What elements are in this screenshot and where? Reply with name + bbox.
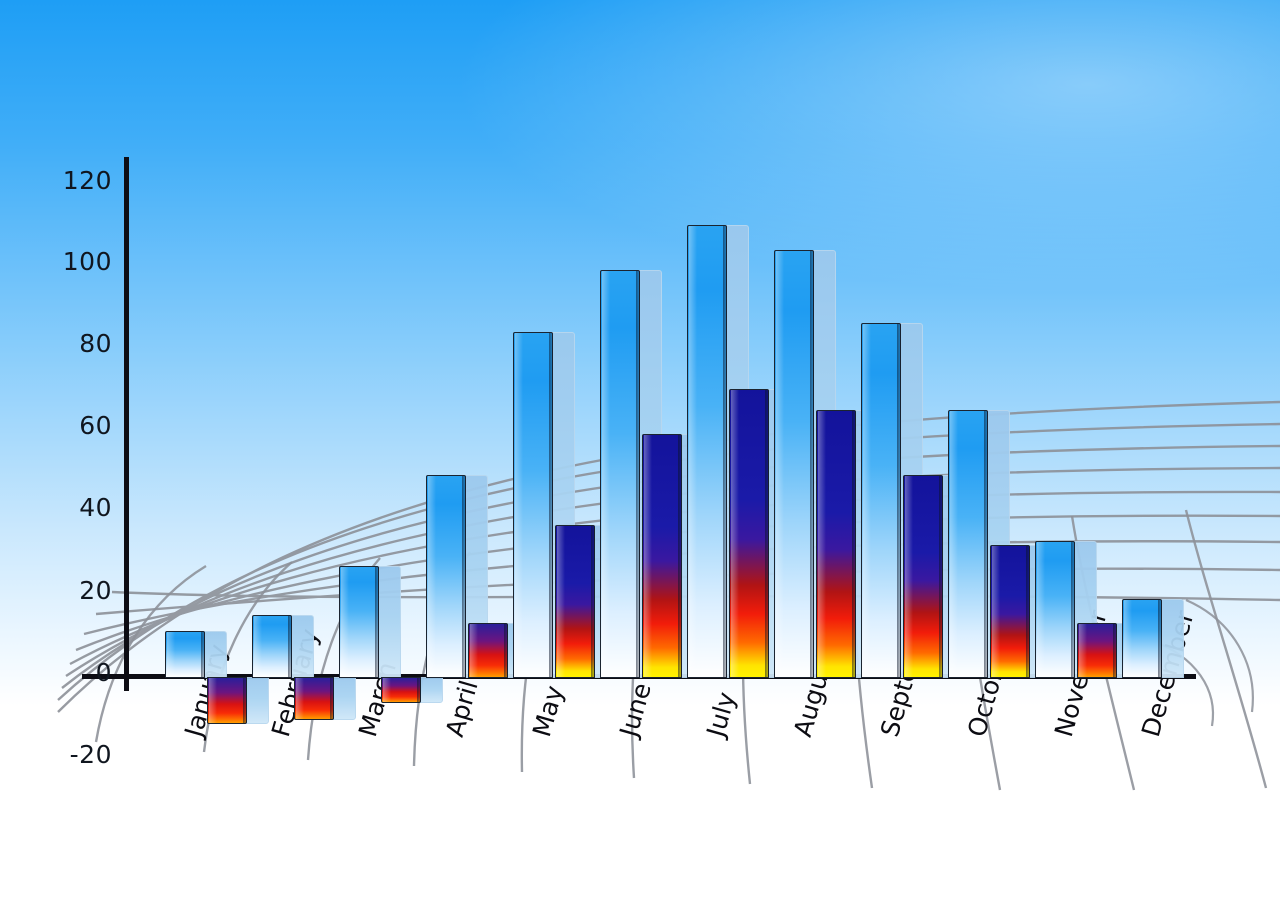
bar-hot-november-fill — [1077, 623, 1117, 678]
bar-hot-august — [816, 410, 854, 677]
bar-hot-april-edge — [504, 624, 508, 677]
y-tick-label-20: 20 — [42, 576, 112, 605]
bar-hot-july-edge — [765, 390, 769, 677]
bar-hot-august-fill — [816, 410, 856, 679]
bar-hot-may-edge — [591, 526, 595, 678]
bar-blue-march — [339, 566, 377, 677]
bar-hot-march — [381, 677, 419, 702]
bar-blue-june-fill — [600, 270, 640, 678]
bar-blue-may-fill — [513, 332, 553, 679]
bar-blue-september-edge — [897, 324, 901, 677]
y-tick-label-neg20: -20 — [42, 740, 112, 769]
bar-hot-july-fill — [729, 389, 769, 678]
chart-canvas: 120100806040200-20 JanuaryFebruaryMarchA… — [0, 0, 1280, 905]
bar-hot-september — [903, 475, 941, 676]
bar-blue-july-fill — [687, 225, 727, 679]
bar-hot-august-edge — [852, 411, 856, 678]
bar-hot-september-fill — [903, 475, 943, 678]
bar-blue-october-edge — [984, 411, 988, 678]
bar-hot-june-edge — [678, 435, 682, 677]
bar-hot-may — [555, 525, 593, 677]
bar-hot-april — [468, 623, 506, 676]
bar-blue-november-fill — [1035, 541, 1075, 678]
bar-hot-june-fill — [642, 434, 682, 678]
bar-hot-january-edge — [243, 678, 247, 723]
bar-hot-february-edge — [330, 678, 334, 719]
bar-blue-january-fill — [165, 631, 205, 678]
bar-hot-january-fill — [207, 677, 247, 724]
plot-area — [0, 0, 1280, 905]
bar-blue-december — [1122, 599, 1160, 677]
y-tick-label-0: 0 — [42, 658, 112, 687]
bar-blue-july-edge — [723, 226, 727, 678]
y-tick-label-80: 80 — [42, 329, 112, 358]
bar-hot-november-edge — [1113, 624, 1117, 677]
y-tick-label-40: 40 — [42, 493, 112, 522]
bar-hot-may-fill — [555, 525, 595, 679]
y-tick-label-60: 60 — [42, 411, 112, 440]
bar-blue-march-edge — [375, 567, 379, 678]
bar-blue-december-fill — [1122, 599, 1162, 679]
bar-blue-june-edge — [636, 271, 640, 677]
bar-blue-april-fill — [426, 475, 466, 678]
bar-blue-february-fill — [252, 615, 292, 679]
bar-blue-february-edge — [288, 616, 292, 678]
bar-blue-january-edge — [201, 632, 205, 677]
bar-hot-november — [1077, 623, 1115, 676]
y-axis-line — [124, 157, 129, 691]
bar-blue-april — [426, 475, 464, 676]
bar-blue-may — [513, 332, 551, 677]
bar-blue-july — [687, 225, 725, 677]
bar-hot-september-edge — [939, 476, 943, 677]
bar-hot-january — [207, 677, 245, 722]
bar-hot-february — [294, 677, 332, 718]
bar-hot-july — [729, 389, 767, 676]
bar-blue-september-fill — [861, 323, 901, 678]
y-tick-label-100: 100 — [42, 247, 112, 276]
bar-blue-november — [1035, 541, 1073, 676]
bar-blue-august — [774, 250, 812, 677]
bar-hot-february-fill — [294, 677, 334, 720]
bar-hot-october-edge — [1026, 546, 1030, 677]
bar-hot-april-fill — [468, 623, 508, 678]
bar-blue-april-edge — [462, 476, 466, 677]
bar-blue-december-edge — [1158, 600, 1162, 678]
bar-blue-march-fill — [339, 566, 379, 679]
bar-blue-august-fill — [774, 250, 814, 679]
bar-blue-january — [165, 631, 203, 676]
bar-blue-september — [861, 323, 899, 676]
bar-hot-june — [642, 434, 680, 676]
bar-blue-may-edge — [549, 333, 553, 678]
y-tick-label-120: 120 — [42, 166, 112, 195]
bar-blue-august-edge — [810, 251, 814, 678]
bar-hot-march-edge — [417, 678, 421, 703]
bar-hot-march-fill — [381, 677, 421, 704]
bar-hot-october-fill — [990, 545, 1030, 678]
bar-blue-october-fill — [948, 410, 988, 679]
bar-blue-february — [252, 615, 290, 677]
bar-blue-october — [948, 410, 986, 677]
bar-hot-october — [990, 545, 1028, 676]
bar-blue-june — [600, 270, 638, 676]
bar-blue-november-edge — [1071, 542, 1075, 677]
